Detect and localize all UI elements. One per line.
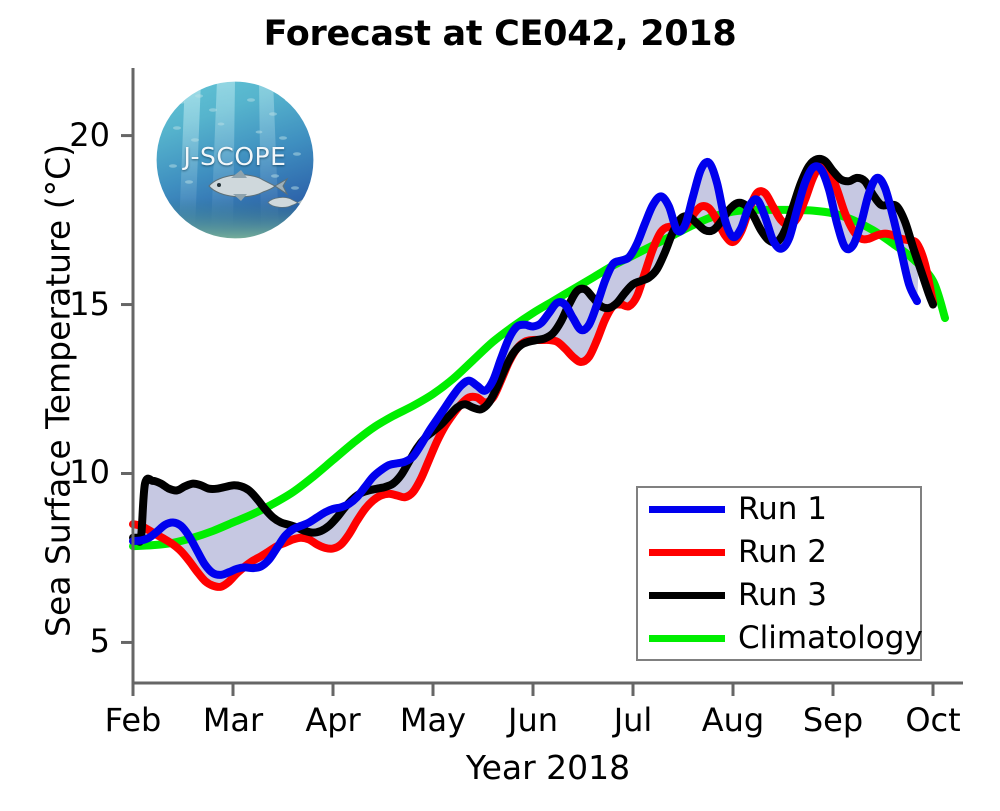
legend-label: Run 2 xyxy=(738,537,827,568)
legend-item[interactable]: Climatology xyxy=(638,617,920,660)
y-tick-label: 10 xyxy=(40,453,110,491)
x-tick-label: Oct xyxy=(873,701,993,739)
legend-item[interactable]: Run 1 xyxy=(638,488,920,531)
logo-text: J-SCOPE xyxy=(155,142,315,171)
x-axis-label: Year 2018 xyxy=(133,748,963,787)
plot-canvas xyxy=(0,0,1000,811)
y-tick-label: 5 xyxy=(40,622,110,660)
j-scope-logo: J-SCOPE xyxy=(155,80,315,240)
y-axis-label: Sea Surface Temperature (°C) xyxy=(39,71,78,711)
legend-label: Run 3 xyxy=(738,580,827,611)
legend: Run 1Run 2Run 3Climatology xyxy=(636,486,922,661)
chart-figure: Forecast at CE042, 2018 Sea Surface Temp… xyxy=(0,0,1000,811)
legend-swatch xyxy=(649,592,725,599)
legend-swatch xyxy=(649,635,725,642)
y-tick-label: 20 xyxy=(40,116,110,154)
legend-item[interactable]: Run 3 xyxy=(638,574,920,617)
legend-item[interactable]: Run 2 xyxy=(638,531,920,574)
y-tick-label: 15 xyxy=(40,285,110,323)
legend-label: Run 1 xyxy=(738,494,827,525)
legend-swatch xyxy=(649,549,725,556)
legend-label: Climatology xyxy=(738,623,923,654)
legend-swatch xyxy=(649,506,725,513)
